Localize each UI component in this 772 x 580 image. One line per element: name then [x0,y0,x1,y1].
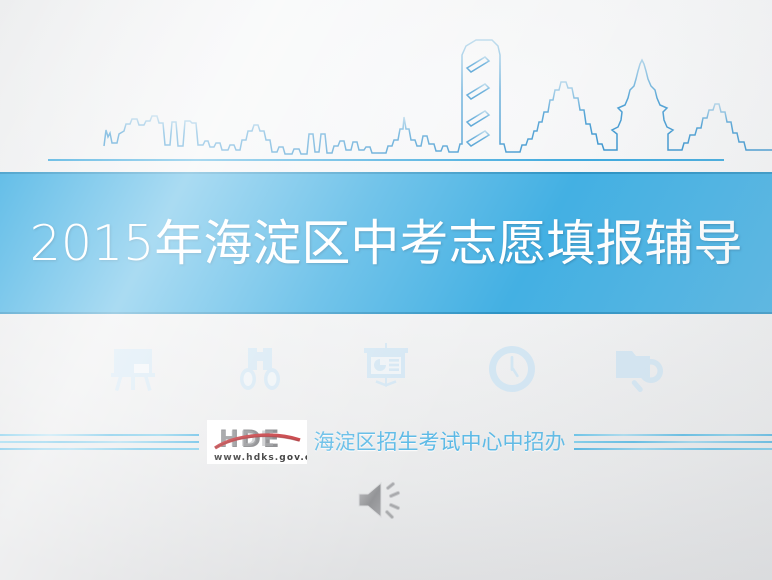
rule-line [574,434,772,436]
rule-line [574,448,772,450]
rule-line [0,448,199,450]
city-skyline-illustration [0,0,772,165]
organization-logo-row: HDE HDE www.hdks.gov.cn 海淀区招生考试中心中招办 [0,414,772,470]
logo-and-caption: HDE HDE www.hdks.gov.cn 海淀区招生考试中心中招办 [199,420,574,464]
svg-text:HDE: HDE [220,427,277,451]
organization-name: 海淀区招生考试中心中招办 [314,432,566,453]
presentation-chart-icon [357,341,415,397]
rule-line [574,441,772,443]
page-title: 2015年海淀区中考志愿填报辅导 [30,219,743,268]
logo-url-text: www.hdks.gov.cn [214,453,307,463]
hdks-logo: HDE HDE www.hdks.gov.cn [207,420,307,464]
left-decorative-rules [0,427,199,457]
rule-line [0,441,199,443]
rule-line [0,434,199,436]
title-banner: 2015年海淀区中考志愿填报辅导 [0,172,772,314]
watermark-icon-strip [0,338,772,400]
speaker-icon[interactable] [355,478,417,522]
clock-icon [483,341,541,397]
folder-search-icon [610,341,668,397]
presentation-slide: 2015年海淀区中考志愿填报辅导 [0,0,772,580]
title-top-rule [48,159,724,161]
easel-icon [104,341,162,397]
right-decorative-rules [574,427,772,457]
binoculars-icon [231,341,289,397]
